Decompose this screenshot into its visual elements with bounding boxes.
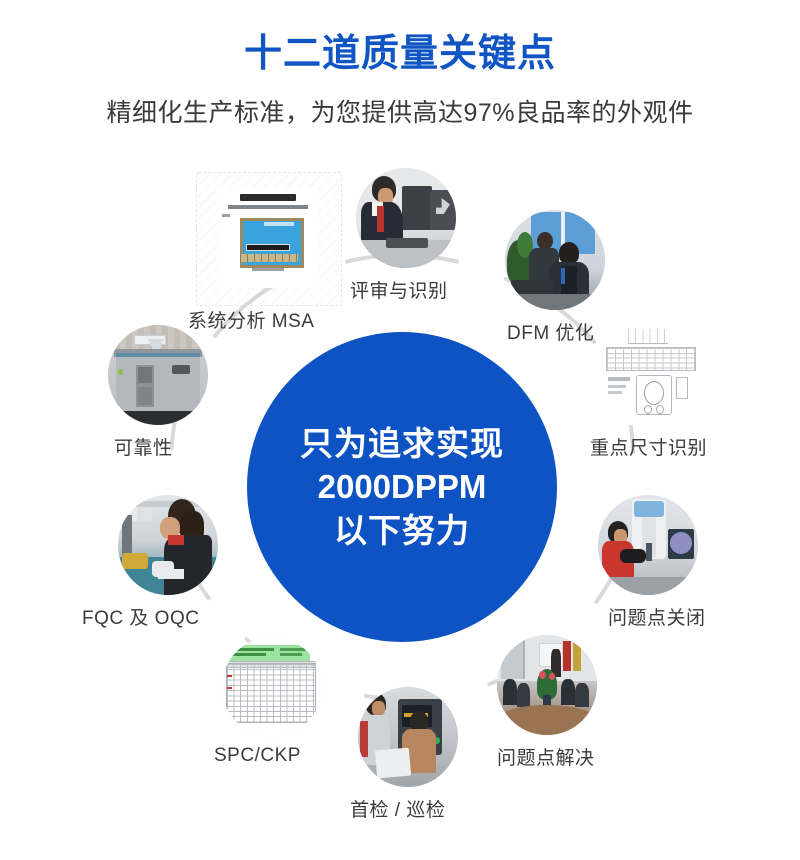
- node-fqc-oqc[interactable]: FQC 及 OQC: [118, 495, 218, 595]
- page-subtitle: 精细化生产标准，为您提供高达97%良品率的外观件: [0, 93, 800, 129]
- center-line-3: 以下努力: [334, 509, 470, 553]
- person-at-computer-photo: [356, 168, 456, 268]
- node-spc-ckp-label: SPC/CKP: [214, 745, 301, 767]
- node-key-dimension[interactable]: 重点尺寸识别: [600, 325, 700, 425]
- test-report-document: [218, 188, 318, 288]
- infographic-page: 十二道质量关键点 精细化生产标准，为您提供高达97%良品率的外观件 只为追求实现: [0, 0, 800, 860]
- node-key-dimension-label: 重点尺寸识别: [590, 433, 707, 460]
- cmm-measurement-photo: [598, 495, 698, 595]
- meeting-room-photo: [497, 635, 597, 735]
- test-chamber-photo: [108, 325, 208, 425]
- inspector-bench-photo: [118, 495, 218, 595]
- node-dfm[interactable]: DFM 优化: [505, 210, 605, 310]
- node-issue-solve[interactable]: 问题点解决: [497, 635, 597, 735]
- node-first-patrol[interactable]: 首检 / 巡检: [358, 687, 458, 787]
- node-issue-close[interactable]: 问题点关闭: [598, 495, 698, 595]
- engineering-drawing-photo: [600, 325, 700, 425]
- node-reliability-label: 可靠性: [114, 433, 173, 460]
- node-first-patrol-label: 首检 / 巡检: [350, 795, 445, 822]
- node-reliability[interactable]: 可靠性: [108, 325, 208, 425]
- node-review-label: 评审与识别: [350, 276, 448, 303]
- node-review[interactable]: 评审与识别: [356, 168, 456, 268]
- node-issue-solve-label: 问题点解决: [497, 743, 595, 770]
- spreadsheet-chart-photo: [222, 637, 322, 737]
- node-msa[interactable]: 系统分析 MSA: [218, 188, 318, 288]
- center-line-2: 2000DPPM: [318, 465, 487, 509]
- node-spc-ckp[interactable]: SPC/CKP: [222, 637, 322, 737]
- cnc-inspection-photo: [358, 687, 458, 787]
- center-circle: 只为追求实现 2000DPPM 以下努力: [247, 332, 557, 642]
- page-header: 十二道质量关键点 精细化生产标准，为您提供高达97%良品率的外观件: [0, 0, 800, 129]
- node-issue-close-label: 问题点关闭: [608, 603, 706, 630]
- center-line-1: 只为追求实现: [300, 422, 504, 466]
- node-fqc-oqc-label: FQC 及 OQC: [82, 603, 199, 630]
- quality-wheel: 只为追求实现 2000DPPM 以下努力 评审与识别: [0, 150, 800, 860]
- node-dfm-label: DFM 优化: [507, 318, 594, 345]
- page-title: 十二道质量关键点: [0, 33, 800, 77]
- node-msa-label: 系统分析 MSA: [188, 306, 314, 333]
- office-team-laptops-photo: [505, 210, 605, 310]
